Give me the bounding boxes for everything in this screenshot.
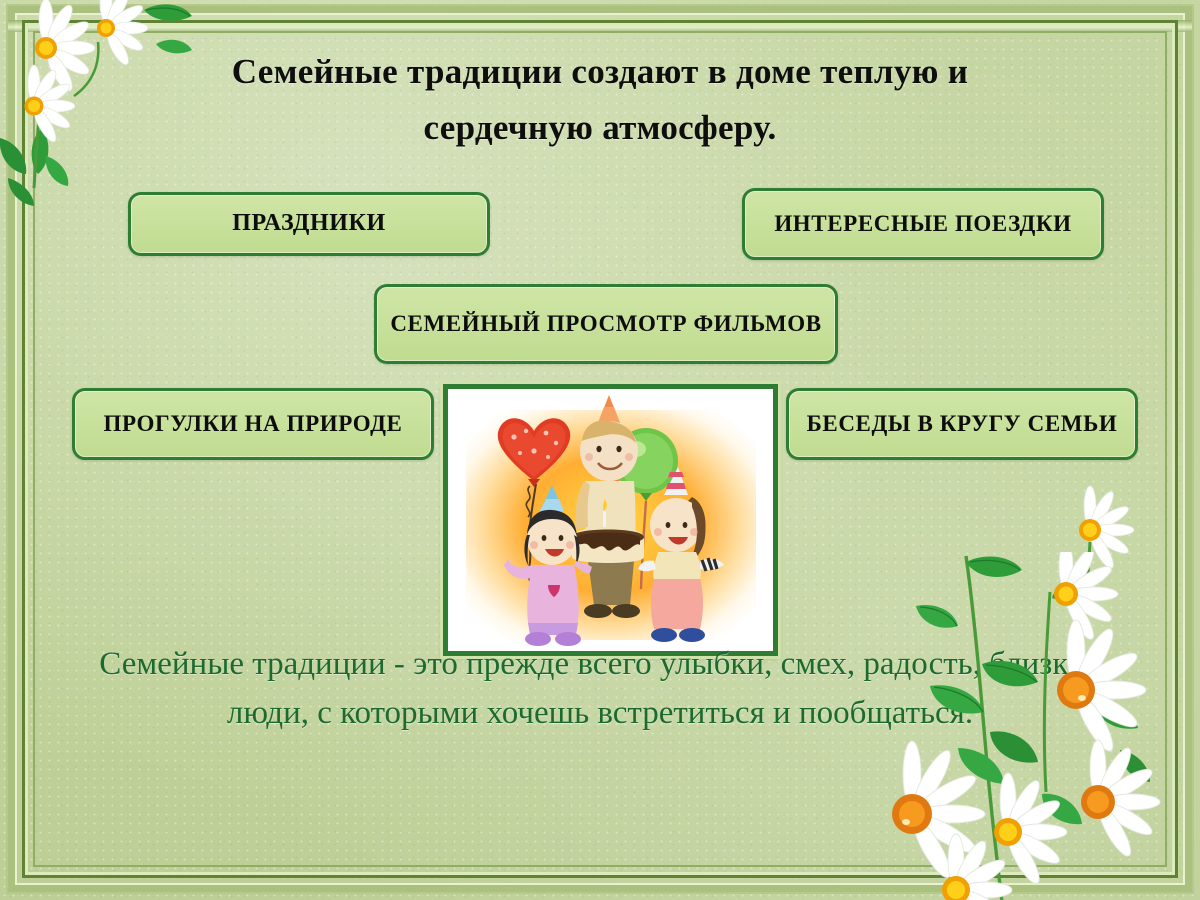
tradition-box-holidays[interactable]: ПРАЗДНИКИ xyxy=(128,192,490,256)
daisy-icon-1 xyxy=(35,0,95,94)
tradition-box-holidays-label: ПРАЗДНИКИ xyxy=(232,209,386,238)
child-center xyxy=(575,395,640,618)
tradition-box-trips-label: ИНТЕРЕСНЫЕ ПОЕЗДКИ xyxy=(774,210,1071,238)
page-title: Семейные традиции создают в доме теплую … xyxy=(100,44,1100,156)
tradition-box-movies[interactable]: СЕМЕЙНЫЙ ПРОСМОТР ФИЛЬМОВ xyxy=(374,284,838,364)
children-party-illustration xyxy=(448,389,773,651)
balloon-ribbon-curl xyxy=(526,486,530,517)
shirt-right xyxy=(653,552,701,579)
tradition-box-trips[interactable]: ИНТЕРЕСНЫЕ ПОЕЗДКИ xyxy=(742,188,1104,260)
daisy-icon-e xyxy=(1081,740,1160,860)
tradition-box-conversations-label: БЕСЕДЫ В КРУГУ СЕМЬИ xyxy=(807,410,1118,438)
daisy-icon-f xyxy=(942,834,1012,900)
slide: Семейные традиции создают в доме теплую … xyxy=(0,0,1200,900)
daisy-icon-c xyxy=(892,741,985,882)
tradition-box-walks-label: ПРОГУЛКИ НА ПРИРОДЕ xyxy=(104,410,403,438)
daisy-icon-d xyxy=(994,773,1067,887)
tradition-box-movies-label: СЕМЕЙНЫЙ ПРОСМОТР ФИЛЬМОВ xyxy=(390,310,821,338)
heart-balloon xyxy=(498,418,570,487)
tradition-box-conversations[interactable]: БЕСЕДЫ В КРУГУ СЕМЬИ xyxy=(786,388,1138,460)
title-line-2: сердечную атмосферу. xyxy=(100,100,1100,156)
daisy-icon-a xyxy=(1054,552,1118,643)
daisy-single-right-icon xyxy=(1034,480,1154,660)
pants-center xyxy=(588,561,634,605)
tradition-box-walks[interactable]: ПРОГУЛКИ НА ПРИРОДЕ xyxy=(72,388,434,460)
family-celebration-image xyxy=(443,384,778,656)
title-line-1: Семейные традиции создают в доме теплую … xyxy=(100,44,1100,100)
daisy-icon-3 xyxy=(25,65,76,145)
closing-statement: Семейные традиции - это прежде всего улы… xyxy=(80,640,1120,737)
image-canvas xyxy=(448,389,773,651)
slide-content: Семейные традиции создают в доме теплую … xyxy=(0,0,1200,900)
